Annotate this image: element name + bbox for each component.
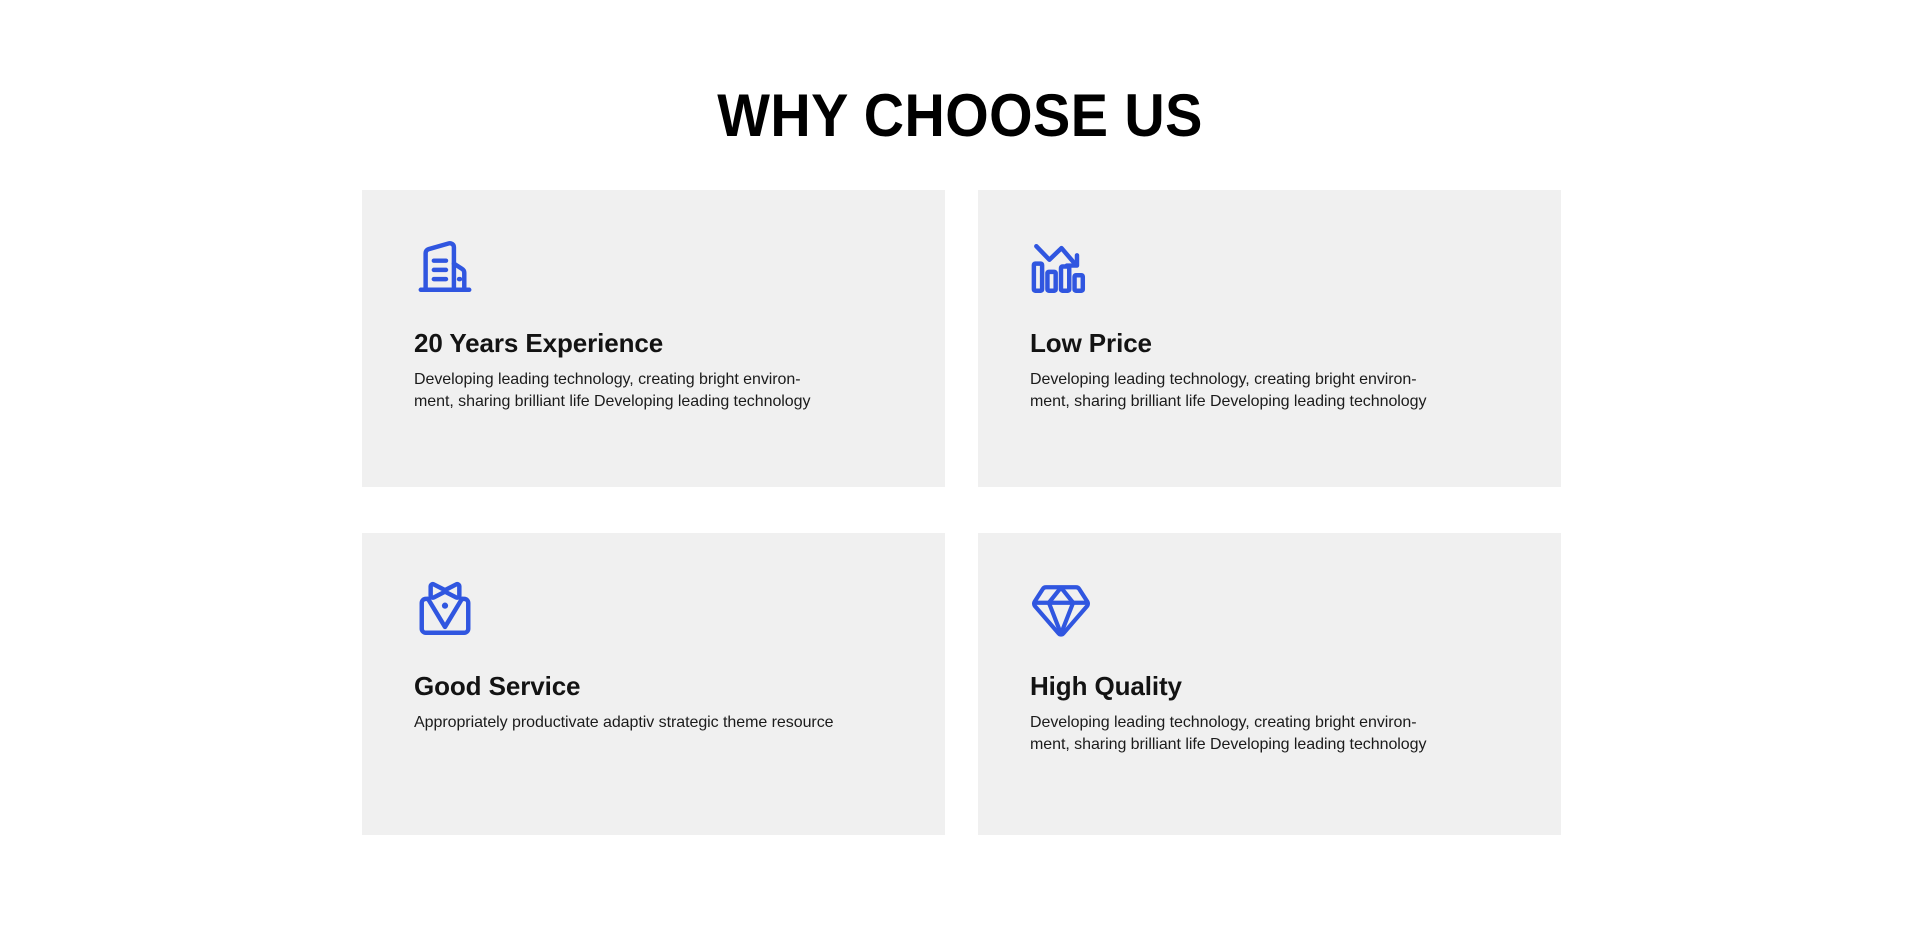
- card-heading: High Quality: [1030, 671, 1509, 701]
- feature-card-low-price[interactable]: Low Price Developing leading technology,…: [978, 190, 1561, 487]
- card-heading: 20 Years Experience: [414, 328, 893, 358]
- office-building-icon: [414, 236, 476, 298]
- feature-card-experience[interactable]: 20 Years Experience Developing leading t…: [362, 190, 945, 487]
- feature-card-good-service[interactable]: Good Service Appropriately productivate …: [362, 533, 945, 835]
- page-title: WHY CHOOSE US: [67, 80, 1853, 152]
- card-body-text: Developing leading technology, creating …: [1030, 712, 1450, 756]
- feature-card-grid: 20 Years Experience Developing leading t…: [362, 190, 1561, 835]
- waiter-bowtie-icon: [414, 579, 476, 641]
- declining-bar-chart-icon: [1030, 236, 1092, 298]
- card-heading: Good Service: [414, 671, 893, 701]
- why-choose-us-section: WHY CHOOSE US 20 Years Experience Develo…: [0, 0, 1920, 930]
- feature-card-high-quality[interactable]: High Quality Developing leading technolo…: [978, 533, 1561, 835]
- card-body-text: Developing leading technology, creating …: [1030, 369, 1450, 413]
- card-body-text: Appropriately productivate adaptiv strat…: [414, 712, 834, 734]
- diamond-gem-icon: [1030, 579, 1092, 641]
- card-heading: Low Price: [1030, 328, 1509, 358]
- card-body-text: Developing leading technology, creating …: [414, 369, 834, 413]
